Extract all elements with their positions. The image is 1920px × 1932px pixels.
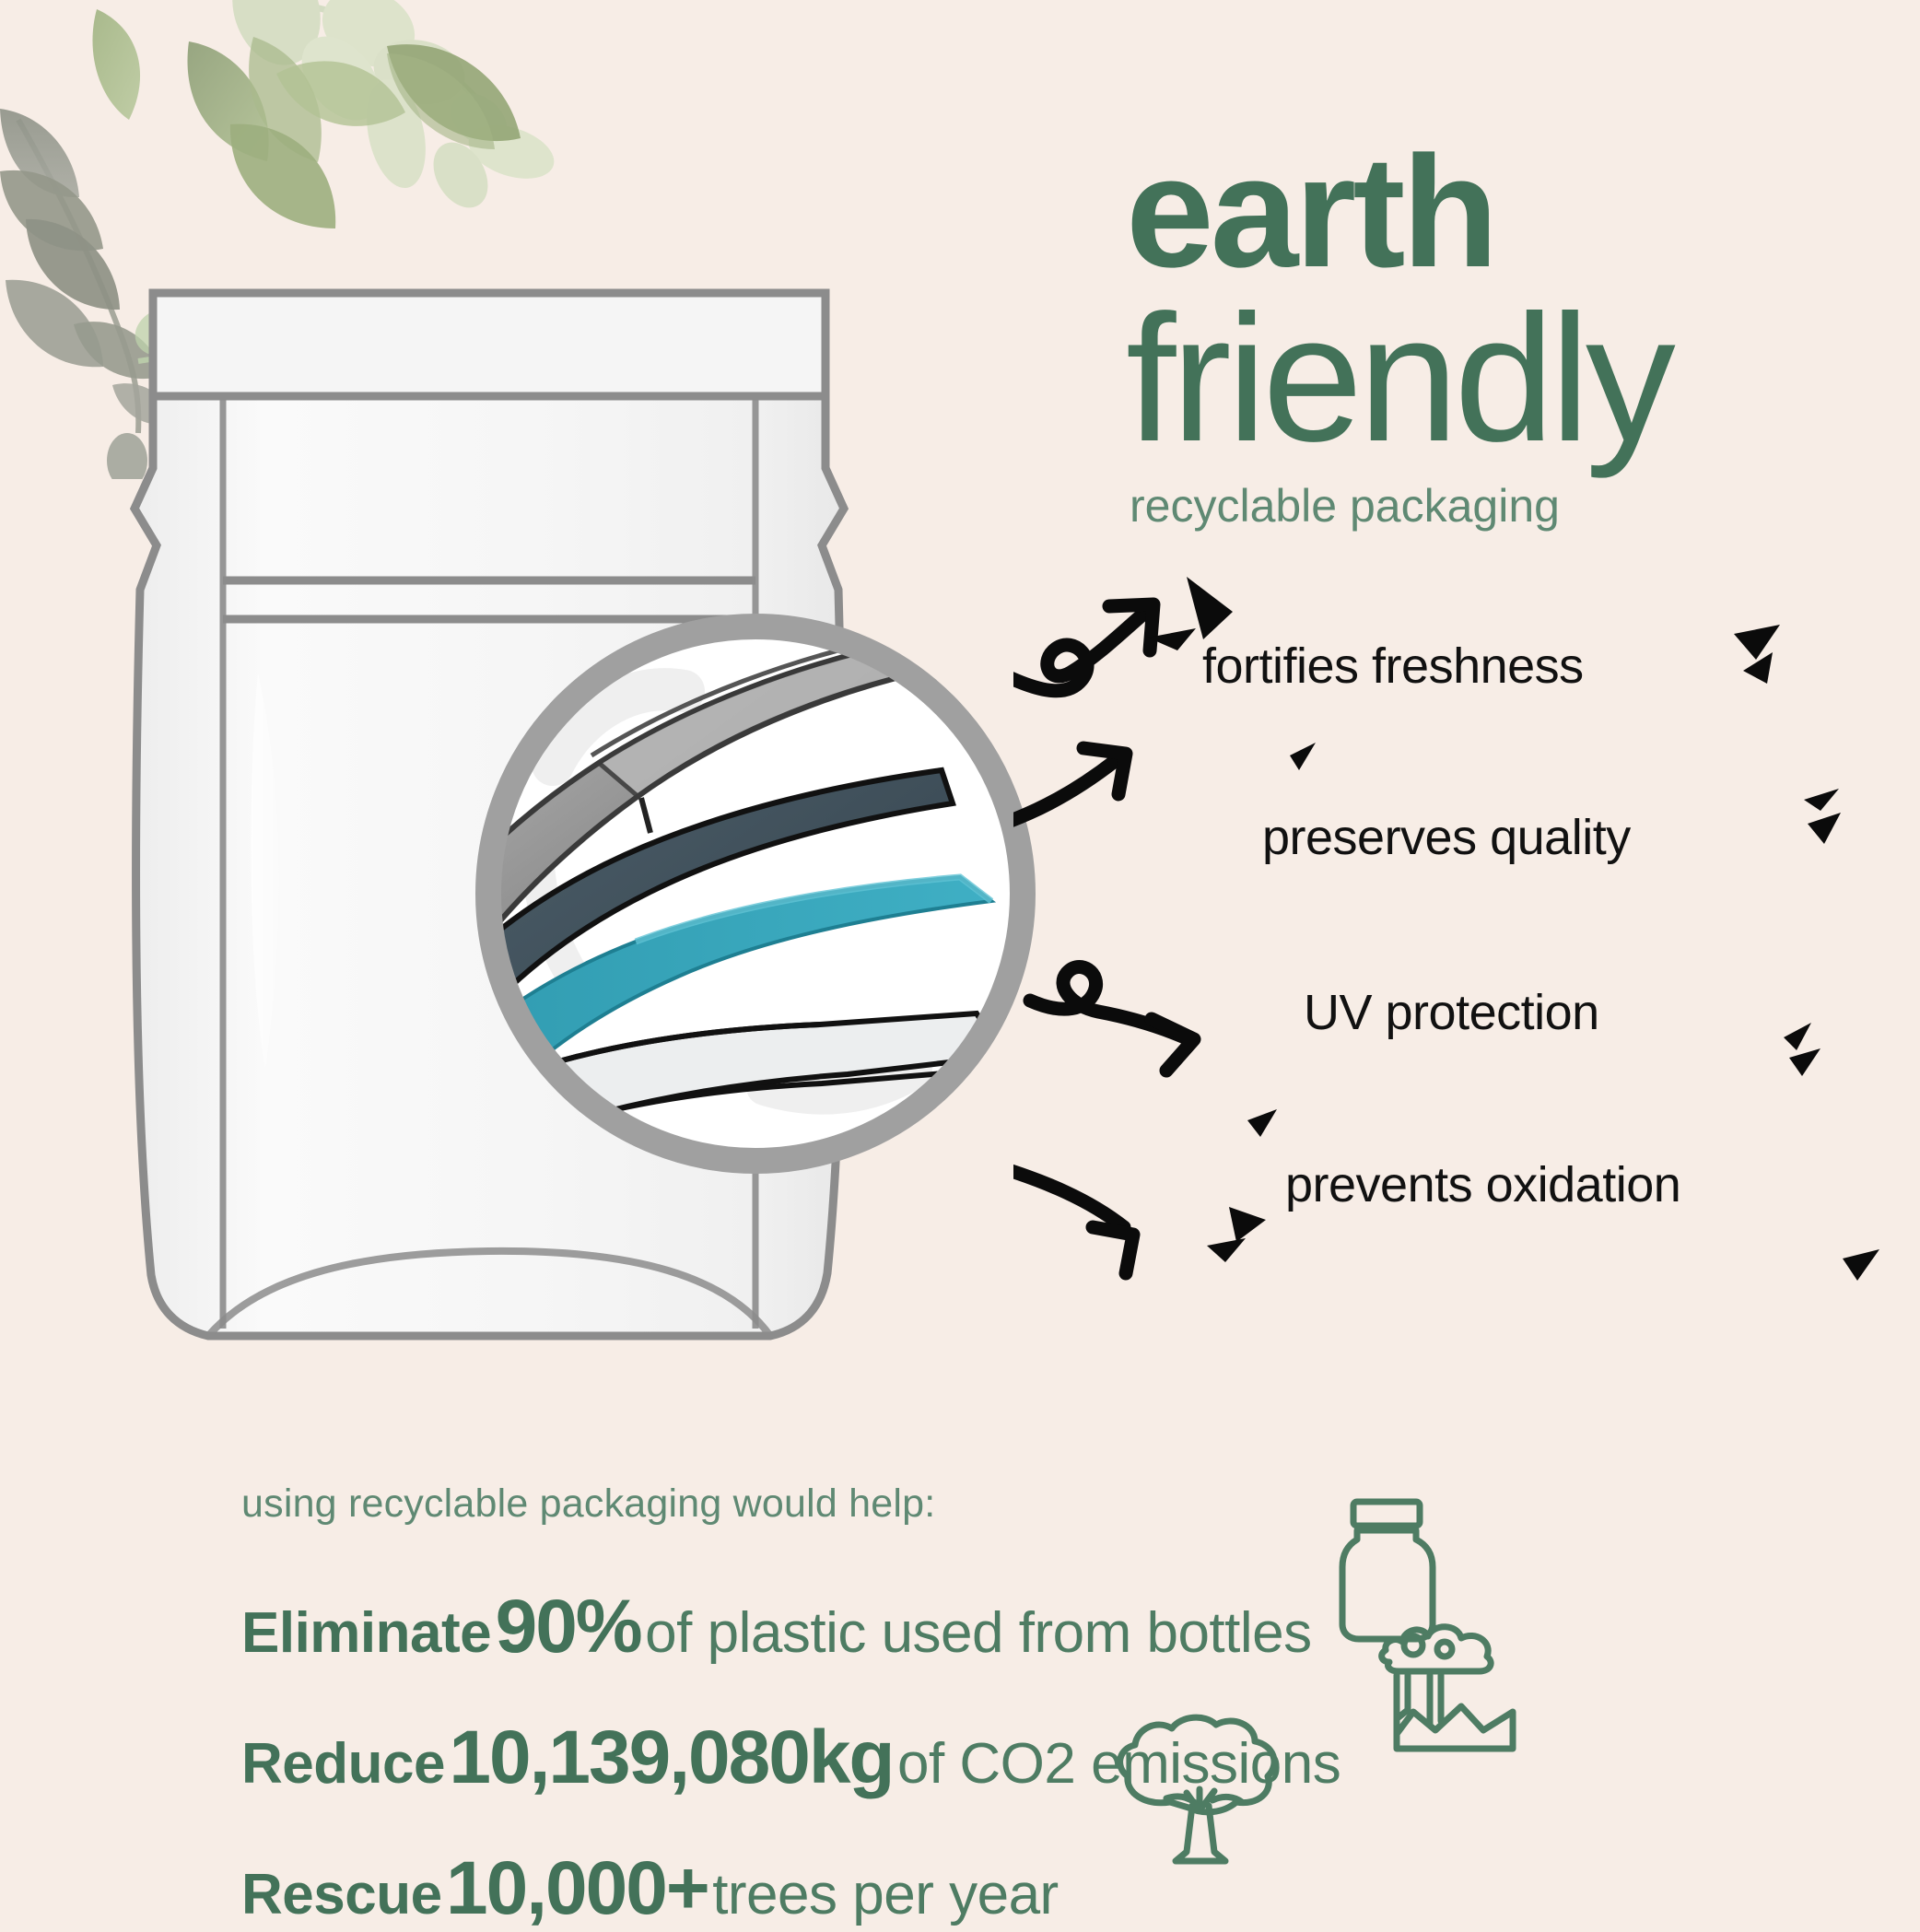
- eucalyptus-sprig-top: [218, 0, 561, 217]
- headline-earth: earth: [1126, 138, 1881, 287]
- headline-friendly: friendly: [1126, 291, 1881, 466]
- tree-icon: [1115, 1714, 1290, 1875]
- feature-label-uv-protection: UV protection: [1304, 984, 1599, 1041]
- stat-lead: Eliminate: [241, 1601, 491, 1665]
- packaging-illustration: [120, 276, 1225, 1493]
- stat-row-trees: Rescue 10,000+ trees per year: [241, 1845, 1623, 1932]
- feature-label-fortifies-freshness: fortifies freshness: [1202, 638, 1584, 695]
- stat-tail: trees per year: [712, 1863, 1059, 1926]
- factory-icon: [1373, 1622, 1529, 1760]
- stat-tail: of plastic used from bottles: [645, 1601, 1311, 1665]
- stat-lead: Reduce: [241, 1732, 445, 1796]
- infographic-canvas: earth friendly recyclable packaging: [0, 0, 1920, 1921]
- olive-leaf-cluster: [92, 9, 521, 228]
- stat-number: 10,139,080kg: [449, 1715, 893, 1799]
- feature-label-prevents-oxidation: prevents oxidation: [1285, 1156, 1680, 1213]
- feature-label-preserves-quality: preserves quality: [1262, 809, 1631, 866]
- stat-number: 10,000+: [446, 1846, 708, 1930]
- stat-lead: Rescue: [241, 1863, 442, 1926]
- stat-number: 90%: [496, 1585, 641, 1669]
- headline-block: earth friendly recyclable packaging: [1126, 138, 1881, 533]
- headline-subtitle: recyclable packaging: [1130, 479, 1881, 533]
